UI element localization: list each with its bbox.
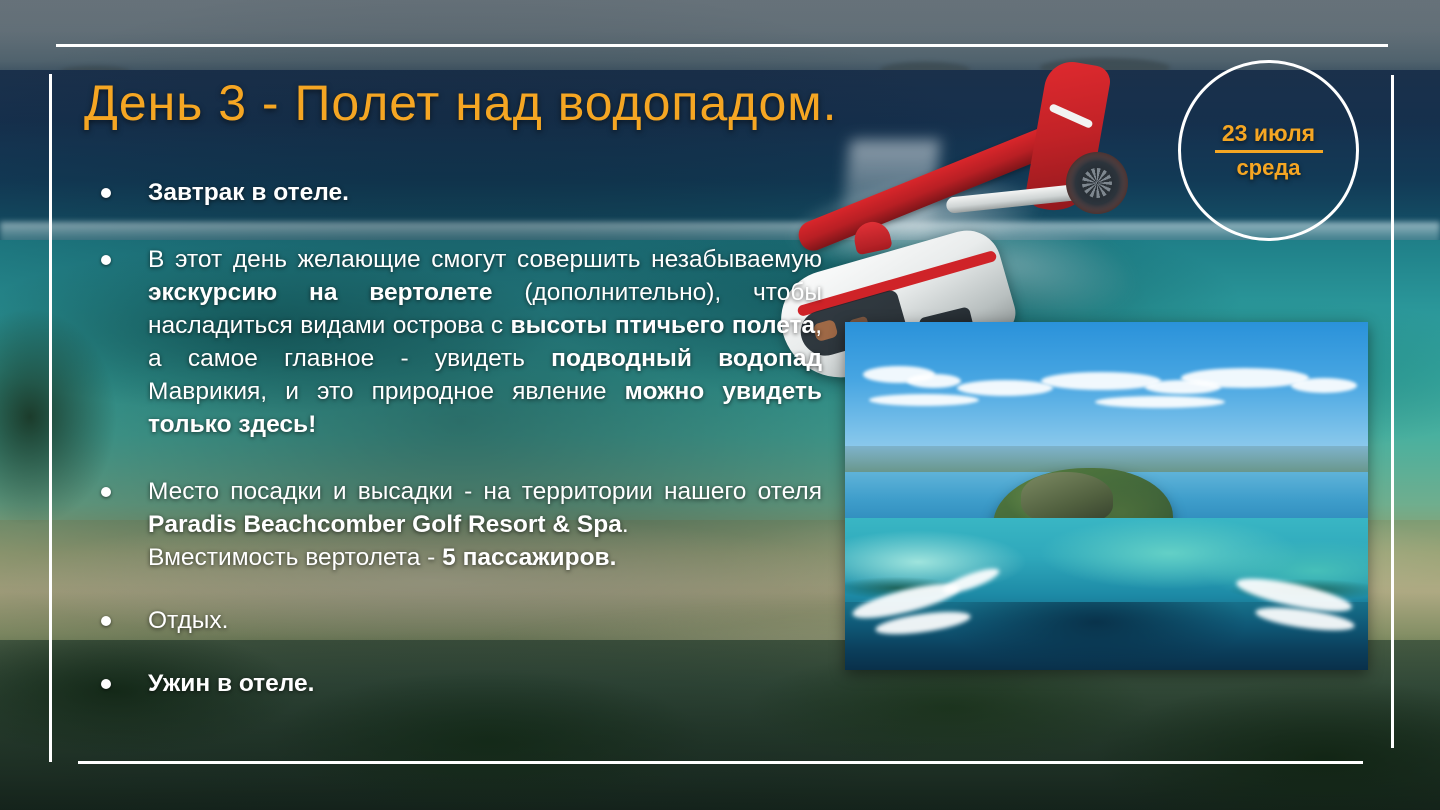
inset-cloud	[907, 374, 961, 388]
list-item: В этот день желающие смогут совершить не…	[96, 243, 822, 441]
date-badge: 23 июля среда	[1178, 60, 1359, 241]
list-item: Завтрак в отеле.	[96, 176, 822, 209]
date-weekday: среда	[1236, 156, 1300, 180]
bullet-dot-icon	[101, 679, 111, 689]
bullet-list: Завтрак в отеле. В этот день желающие см…	[96, 176, 822, 700]
slide-title: День 3 - Полет над водопадом.	[84, 74, 838, 132]
inset-cloud	[869, 394, 979, 406]
helicopter-fenestron	[1066, 152, 1128, 214]
bullet-text-landing-place: Место посадки и высадки - на территории …	[148, 475, 822, 541]
frame-line-top	[56, 44, 1388, 47]
inset-cloud	[1291, 378, 1357, 393]
bullet-dot-icon	[101, 255, 111, 265]
helicopter-image	[790, 40, 1220, 340]
frame-line-left	[49, 74, 52, 762]
bullet-text-breakfast: Завтрак в отеле.	[148, 176, 822, 209]
inset-photo	[845, 322, 1368, 670]
bullet-dot-icon	[101, 616, 111, 626]
inset-cloud	[1181, 368, 1309, 388]
frame-line-right	[1391, 75, 1394, 748]
bullet-text-dinner: Ужин в отеле.	[148, 667, 822, 700]
list-item: Ужин в отеле.	[96, 667, 822, 700]
bullet-dot-icon	[101, 487, 111, 497]
inset-mountain-peak	[1021, 472, 1113, 524]
bullet-dot-icon	[101, 188, 111, 198]
list-item: Место посадки и высадки - на территории …	[96, 475, 822, 574]
presentation-slide: День 3 - Полет над водопадом. 23 июля ср…	[0, 0, 1440, 810]
bullet-text-capacity: Вместимость вертолета - 5 пассажиров.	[148, 541, 822, 574]
date-day: 23 июля	[1222, 121, 1315, 146]
inset-cloud	[957, 380, 1053, 396]
bullet-text-helicopter-excursion: В этот день желающие смогут совершить не…	[148, 243, 822, 441]
frame-line-bottom	[78, 761, 1363, 764]
inset-cloud	[1041, 372, 1161, 390]
date-divider	[1215, 150, 1323, 153]
bullet-text-rest: Отдых.	[148, 604, 822, 637]
list-item: Отдых.	[96, 604, 822, 637]
inset-cloud	[1095, 396, 1225, 408]
